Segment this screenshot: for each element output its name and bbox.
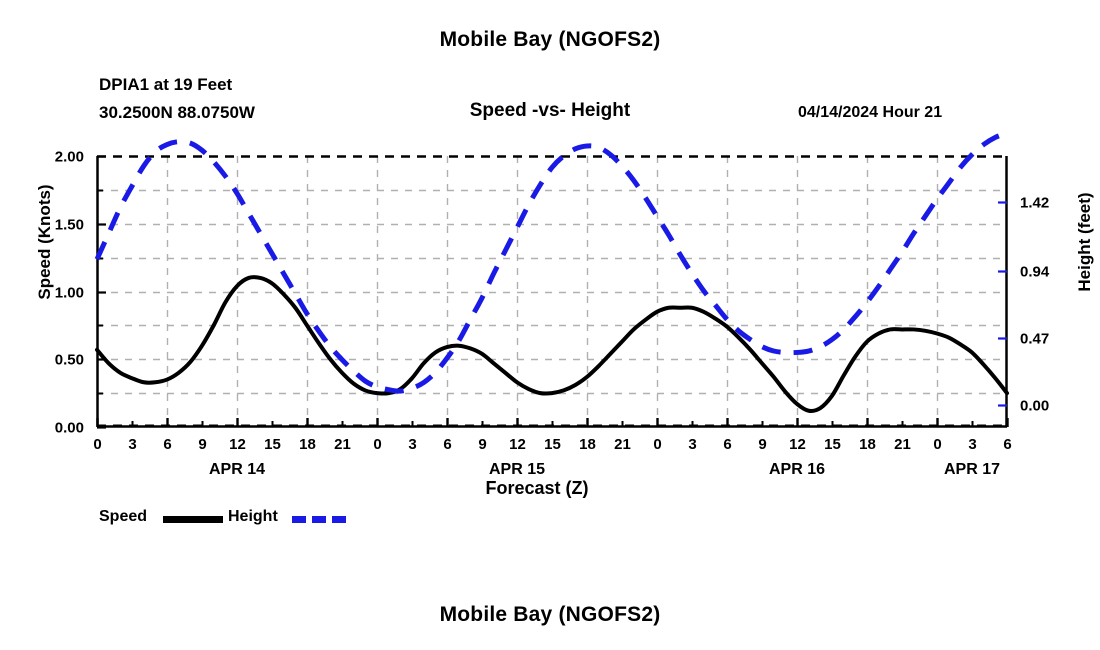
x-tick-label: 21 (334, 436, 351, 453)
chart-canvas: 0.000.501.001.502.000.000.470.941.420369… (0, 0, 1100, 530)
x-tick-label: 12 (789, 436, 806, 453)
x-axis-title: Forecast (Z) (0, 478, 1074, 499)
y-right-tick-label: 0.00 (1020, 398, 1049, 415)
y-left-tick-label: 1.50 (55, 217, 84, 234)
x-day-label: APR 17 (944, 461, 1000, 478)
x-tick-label: 3 (408, 436, 416, 453)
x-tick-label: 3 (688, 436, 696, 453)
x-tick-label: 9 (198, 436, 206, 453)
x-tick-label: 0 (373, 436, 381, 453)
x-tick-label: 18 (579, 436, 596, 453)
x-tick-label: 3 (968, 436, 976, 453)
x-tick-label: 0 (653, 436, 661, 453)
legend-label-speed: Speed (99, 508, 147, 526)
x-tick-label: 15 (264, 436, 281, 453)
y-left-tick-label: 2.00 (55, 149, 84, 166)
y-left-tick-label: 1.00 (55, 285, 84, 302)
page-title-bottom: Mobile Bay (NGOFS2) (0, 603, 1100, 627)
x-day-label: APR 15 (489, 461, 545, 478)
y-right-tick-label: 1.42 (1020, 195, 1049, 212)
x-day-label: APR 14 (209, 461, 265, 478)
legend-label-height: Height (228, 508, 278, 526)
x-tick-label: 21 (894, 436, 911, 453)
x-tick-label: 18 (859, 436, 876, 453)
x-tick-label: 21 (614, 436, 631, 453)
series-line-height (97, 133, 1007, 391)
legend-swatch-speed (163, 516, 223, 523)
x-tick-label: 9 (758, 436, 766, 453)
x-tick-label: 18 (299, 436, 316, 453)
x-tick-label: 15 (544, 436, 561, 453)
legend-swatch-height (292, 516, 352, 523)
x-tick-label: 12 (229, 436, 246, 453)
x-tick-label: 0 (933, 436, 941, 453)
x-tick-label: 6 (1003, 436, 1011, 453)
chart-page: Mobile Bay (NGOFS2) DPIA1 at 19 Feet 30.… (0, 0, 1100, 650)
x-tick-label: 15 (824, 436, 841, 453)
x-day-label: APR 16 (769, 461, 825, 478)
x-tick-label: 3 (128, 436, 136, 453)
x-tick-label: 0 (93, 436, 101, 453)
data-series (97, 133, 1007, 411)
x-tick-label: 6 (163, 436, 171, 453)
x-tick-label: 6 (723, 436, 731, 453)
y-left-tick-label: 0.00 (55, 420, 84, 437)
x-tick-label: 12 (509, 436, 526, 453)
y-right-tick-label: 0.47 (1020, 331, 1049, 348)
y-left-tick-label: 0.50 (55, 352, 84, 369)
x-tick-label: 9 (478, 436, 486, 453)
axis-tick-labels: 0.000.501.001.502.000.000.470.941.420369… (55, 149, 1050, 479)
y-right-tick-label: 0.94 (1020, 264, 1050, 281)
x-tick-label: 6 (443, 436, 451, 453)
